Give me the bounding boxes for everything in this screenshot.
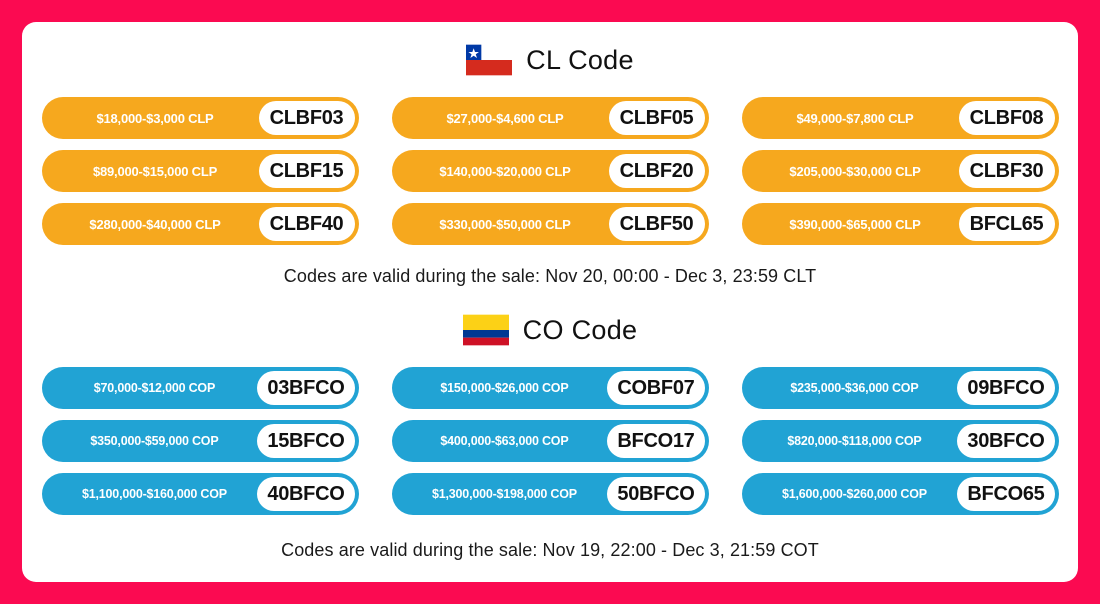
code-value: BFCO65 (967, 483, 1044, 506)
code-pill[interactable]: $330,000-$50,000 CLP CLBF50 (392, 203, 709, 245)
code-value: CLBF40 (270, 213, 344, 236)
code-range: $70,000-$12,000 COP (56, 381, 258, 395)
code-range: $820,000-$118,000 COP (756, 434, 958, 448)
code-range: $205,000-$30,000 CLP (756, 164, 959, 179)
code-pill[interactable]: $205,000-$30,000 CLP CLBF30 (742, 150, 1059, 192)
section-title-co: CO Code (523, 317, 638, 344)
code-chip[interactable]: 03BFCO (257, 371, 354, 405)
code-pill[interactable]: $390,000-$65,000 CLP BFCL65 (742, 203, 1059, 245)
code-pill[interactable]: $49,000-$7,800 CLP CLBF08 (742, 97, 1059, 139)
code-range: $1,300,000-$198,000 COP (406, 487, 608, 501)
code-chip[interactable]: BFCO65 (957, 477, 1054, 511)
code-pill[interactable]: $18,000-$3,000 CLP CLBF03 (42, 97, 359, 139)
validity-note-cl: Codes are valid during the sale: Nov 20,… (22, 266, 1078, 287)
code-chip[interactable]: 15BFCO (257, 424, 354, 458)
code-chip[interactable]: BFCL65 (959, 207, 1055, 241)
code-chip[interactable]: CLBF08 (959, 101, 1055, 135)
code-range: $140,000-$20,000 CLP (406, 164, 609, 179)
code-value: CLBF15 (270, 160, 344, 183)
code-chip[interactable]: CLBF40 (259, 207, 355, 241)
code-chip[interactable]: CLBF20 (609, 154, 705, 188)
code-pill[interactable]: $350,000-$59,000 COP 15BFCO (42, 420, 359, 462)
code-pill[interactable]: $1,100,000-$160,000 COP 40BFCO (42, 473, 359, 515)
code-value: 40BFCO (267, 483, 344, 506)
code-value: 09BFCO (967, 377, 1044, 400)
code-range: $49,000-$7,800 CLP (756, 111, 959, 126)
code-grid-co: $70,000-$12,000 COP 03BFCO $150,000-$26,… (22, 367, 1078, 515)
code-pill[interactable]: $400,000-$63,000 COP BFCO17 (392, 420, 709, 462)
code-range: $1,100,000-$160,000 COP (56, 487, 258, 501)
code-pill[interactable]: $1,300,000-$198,000 COP 50BFCO (392, 473, 709, 515)
code-pill[interactable]: $1,600,000-$260,000 COP BFCO65 (742, 473, 1059, 515)
code-value: CLBF20 (620, 160, 694, 183)
code-value: COBF07 (617, 377, 694, 400)
code-value: 15BFCO (267, 430, 344, 453)
code-chip[interactable]: 09BFCO (957, 371, 1054, 405)
section-header-co: CO Code (22, 314, 1078, 346)
code-pill[interactable]: $235,000-$36,000 COP 09BFCO (742, 367, 1059, 409)
code-chip[interactable]: 30BFCO (957, 424, 1054, 458)
code-chip[interactable]: CLBF05 (609, 101, 705, 135)
code-chip[interactable]: CLBF03 (259, 101, 355, 135)
code-range: $390,000-$65,000 CLP (756, 217, 959, 232)
code-range: $1,600,000-$260,000 COP (756, 487, 958, 501)
code-pill[interactable]: $150,000-$26,000 COP COBF07 (392, 367, 709, 409)
code-chip[interactable]: 50BFCO (607, 477, 704, 511)
code-range: $350,000-$59,000 COP (56, 434, 258, 448)
code-pill[interactable]: $27,000-$4,600 CLP CLBF05 (392, 97, 709, 139)
validity-note-co: Codes are valid during the sale: Nov 19,… (22, 540, 1078, 561)
chile-flag-icon (466, 44, 512, 76)
code-pill[interactable]: $89,000-$15,000 CLP CLBF15 (42, 150, 359, 192)
code-value: CLBF50 (620, 213, 694, 236)
code-chip[interactable]: CLBF50 (609, 207, 705, 241)
colombia-flag-icon (463, 314, 509, 346)
code-value: CLBF05 (620, 107, 694, 130)
code-range: $89,000-$15,000 CLP (56, 164, 259, 179)
code-chip[interactable]: CLBF15 (259, 154, 355, 188)
code-range: $27,000-$4,600 CLP (406, 111, 609, 126)
section-title-cl: CL Code (526, 47, 634, 74)
code-value: 50BFCO (617, 483, 694, 506)
code-chip[interactable]: BFCO17 (607, 424, 704, 458)
code-value: 03BFCO (267, 377, 344, 400)
code-chip[interactable]: COBF07 (607, 371, 704, 405)
code-grid-cl: $18,000-$3,000 CLP CLBF03 $27,000-$4,600… (22, 97, 1078, 245)
code-range: $400,000-$63,000 COP (406, 434, 608, 448)
code-pill[interactable]: $820,000-$118,000 COP 30BFCO (742, 420, 1059, 462)
code-range: $235,000-$36,000 COP (756, 381, 958, 395)
code-range: $330,000-$50,000 CLP (406, 217, 609, 232)
code-range: $18,000-$3,000 CLP (56, 111, 259, 126)
code-range: $280,000-$40,000 CLP (56, 217, 259, 232)
code-value: CLBF08 (970, 107, 1044, 130)
code-value: 30BFCO (967, 430, 1044, 453)
code-pill[interactable]: $70,000-$12,000 COP 03BFCO (42, 367, 359, 409)
code-range: $150,000-$26,000 COP (406, 381, 608, 395)
code-value: CLBF30 (970, 160, 1044, 183)
code-value: BFCO17 (617, 430, 694, 453)
code-pill[interactable]: $280,000-$40,000 CLP CLBF40 (42, 203, 359, 245)
code-chip[interactable]: 40BFCO (257, 477, 354, 511)
code-value: BFCL65 (970, 213, 1044, 236)
code-pill[interactable]: $140,000-$20,000 CLP CLBF20 (392, 150, 709, 192)
code-chip[interactable]: CLBF30 (959, 154, 1055, 188)
section-header-cl: CL Code (22, 44, 1078, 76)
promo-card: CL Code $18,000-$3,000 CLP CLBF03 $27,00… (22, 22, 1078, 582)
code-value: CLBF03 (270, 107, 344, 130)
